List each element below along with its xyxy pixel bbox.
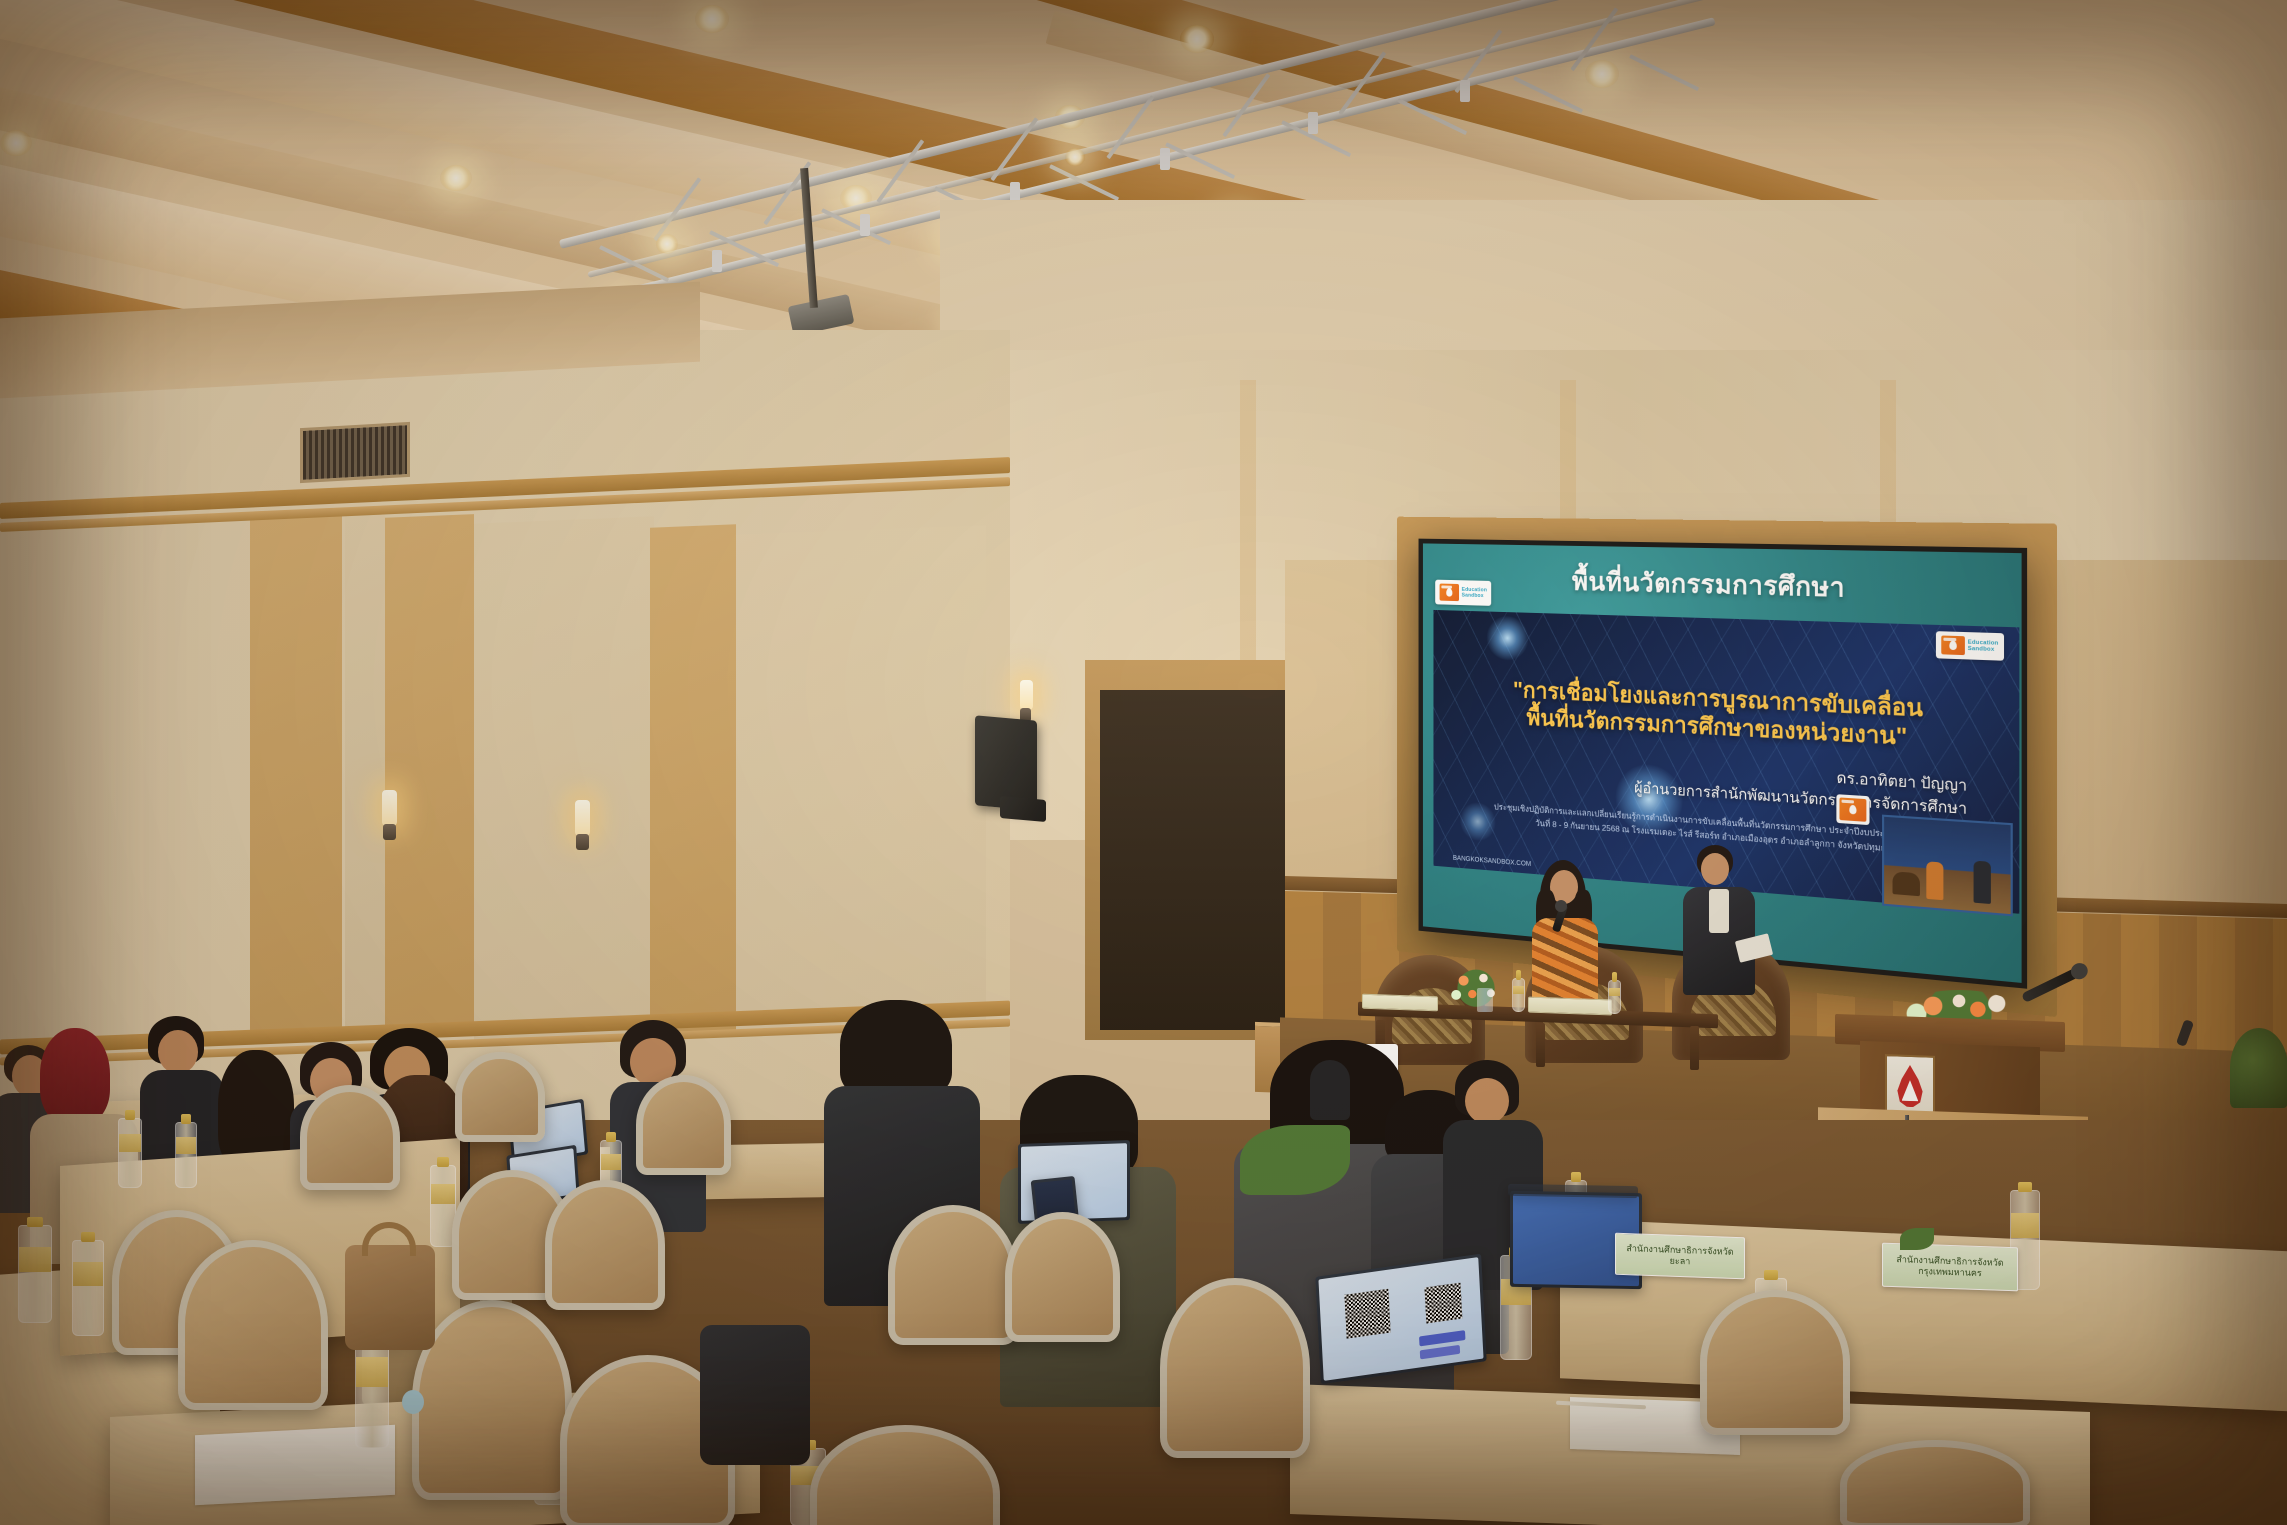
education-sandbox-logo-left: Education Sandbox: [1435, 580, 1491, 606]
dark-doorway: [1100, 690, 1300, 1030]
stage-water-bottle: [1608, 980, 1621, 1014]
stage-water-bottle: [1512, 978, 1525, 1012]
dress-shirt: [1709, 889, 1729, 933]
stage-name-placard-left: [1362, 994, 1438, 1012]
wood-pilaster: [382, 514, 474, 1038]
bag-charm: [402, 1390, 424, 1414]
stage-plant: [2230, 1028, 2287, 1108]
placard-line-2: กรุงเทพมหานคร: [1918, 1266, 1982, 1279]
mic-head: [1555, 900, 1567, 912]
truss-spotlight: [1065, 148, 1085, 166]
table-name-placard-yala: สำนักงานศึกษาธิการจังหวัด ยะลา: [1615, 1233, 1745, 1280]
laptop-back-right[interactable]: [1508, 1184, 1638, 1198]
handbag: [345, 1245, 435, 1350]
inset-person-man: [1974, 861, 1991, 904]
wood-pilaster: [650, 524, 736, 1038]
water-bottle: [175, 1122, 197, 1188]
ceiling-downlight: [440, 165, 472, 191]
banquet-chair[interactable]: [412, 1300, 572, 1500]
wood-pilaster: [250, 508, 342, 1032]
banquet-chair[interactable]: [1160, 1278, 1310, 1458]
brand-line-2: Sandbox: [1462, 593, 1487, 600]
banquet-chair[interactable]: [300, 1085, 400, 1190]
wall-loudspeaker-lower: [1000, 796, 1046, 822]
banquet-chair[interactable]: [1005, 1212, 1120, 1342]
fabric-panel: [345, 511, 385, 1033]
fabric-panel: [474, 516, 654, 1044]
fabric-panel: [736, 525, 986, 1035]
stage-table-leg: [1536, 1023, 1545, 1067]
banquet-chair[interactable]: [1700, 1290, 1850, 1435]
sandbox-badge-inline: [1836, 794, 1869, 825]
backpack: [700, 1325, 810, 1465]
banquet-chair[interactable]: [545, 1180, 665, 1310]
qr-code: [1344, 1289, 1390, 1339]
placard-line-2: ยะลา: [1670, 1256, 1691, 1268]
water-bottle: [118, 1118, 142, 1188]
banquet-chair[interactable]: [455, 1052, 545, 1142]
banquet-chair[interactable]: [888, 1205, 1018, 1345]
water-bottle: [72, 1240, 104, 1336]
banquet-chair[interactable]: [1840, 1440, 2030, 1525]
table-plant-decor: [1900, 1228, 1934, 1250]
inset-person-woman: [1926, 861, 1943, 900]
live-camera-feed-inset: [1882, 815, 2013, 917]
stage-water-glass: [1477, 988, 1493, 1012]
podium-emblem-icon: [1885, 1054, 1935, 1118]
banquet-chair[interactable]: [636, 1075, 731, 1175]
brand-line-2: Sandbox: [1968, 646, 1999, 654]
ceiling-downlight: [0, 130, 32, 156]
truss-spotlight: [656, 234, 678, 254]
sandbox-mark-icon: [1839, 797, 1866, 821]
sandbox-mark-icon: [1440, 584, 1459, 602]
conference-hall-photo: พื้นที่นวัตกรรมการศึกษา Education Sandbo…: [0, 0, 2287, 1525]
stage-flower-arrangement: [1445, 968, 1507, 1010]
banquet-chair[interactable]: [178, 1240, 328, 1410]
sandbox-mark-icon: [1941, 635, 1965, 655]
air-return-grille: [300, 422, 410, 483]
inset-chair: [1893, 871, 1920, 896]
education-sandbox-logo-right: Education Sandbox: [1936, 631, 2005, 661]
slide-glow: [1487, 615, 1529, 661]
stage-table-leg: [1690, 1026, 1699, 1070]
qr-code: [1425, 1283, 1463, 1324]
table-plant-decor: [1240, 1125, 1350, 1195]
water-bottle: [18, 1225, 52, 1323]
stage-name-placard-center: [1528, 997, 1612, 1016]
